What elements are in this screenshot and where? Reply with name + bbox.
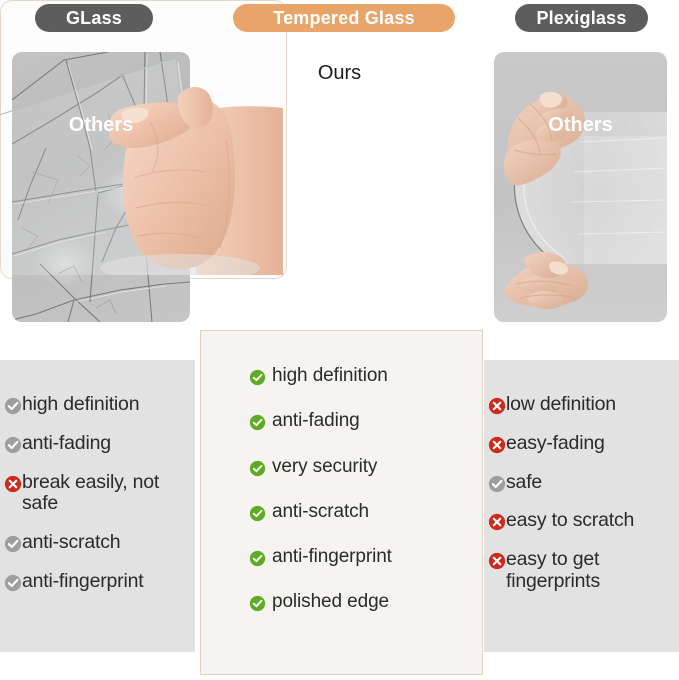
feature-label: polished edge xyxy=(266,591,389,612)
feature-label: anti-fading xyxy=(22,433,111,455)
feature-list-tempered-glass: high definition anti-fading very securit… xyxy=(249,365,474,637)
list-item: high definition xyxy=(249,365,474,386)
feature-label: anti-fading xyxy=(266,410,360,431)
photo-bending-plexiglass: Others xyxy=(494,52,667,322)
list-item: polished edge xyxy=(249,591,474,612)
feature-panel-plexiglass: low definition easy-fading safe easy to … xyxy=(484,360,679,652)
list-item: high definition xyxy=(4,394,193,416)
list-item: safe xyxy=(488,472,677,494)
cross-red-icon xyxy=(488,552,506,570)
category-pill-plexiglass[interactable]: Plexiglass xyxy=(515,4,648,32)
list-item: break easily, not safe xyxy=(4,472,193,516)
feature-label: anti-fingerprint xyxy=(22,571,143,593)
feature-label: very security xyxy=(266,456,377,477)
check-green-icon xyxy=(249,369,266,386)
feature-label: easy to scratch xyxy=(506,510,634,532)
list-item: anti-fading xyxy=(249,410,474,431)
photo-tempered-glass-hand: Ours xyxy=(0,0,287,279)
category-pill-plexiglass-label: Plexiglass xyxy=(536,8,626,29)
feature-label: safe xyxy=(506,472,542,494)
feature-label: low definition xyxy=(506,394,616,416)
list-item: easy to get fingerprints xyxy=(488,549,677,593)
hands-bending-plexiglass-illustration xyxy=(494,52,667,322)
feature-label: high definition xyxy=(266,365,388,386)
list-item: anti-scratch xyxy=(249,501,474,522)
photo-label-right: Others xyxy=(494,114,667,137)
feature-label: high definition xyxy=(22,394,139,416)
feature-label: easy-fading xyxy=(506,433,605,455)
check-gray-icon xyxy=(4,397,22,415)
list-item: anti-fading xyxy=(4,433,193,455)
list-item: low definition xyxy=(488,394,677,416)
feature-panel-tempered-glass: high definition anti-fading very securit… xyxy=(200,330,483,675)
check-green-icon xyxy=(249,595,266,612)
check-gray-icon xyxy=(488,475,506,493)
list-item: easy-fading xyxy=(488,433,677,455)
list-item: easy to scratch xyxy=(488,510,677,532)
list-item: anti-fingerprint xyxy=(4,571,193,593)
cross-red-icon xyxy=(488,513,506,531)
cross-red-icon xyxy=(488,436,506,454)
feature-label: easy to get fingerprints xyxy=(506,549,677,593)
feature-label: break easily, not safe xyxy=(22,472,193,516)
list-item: anti-scratch xyxy=(4,532,193,554)
feature-label: anti-scratch xyxy=(266,501,369,522)
check-gray-icon xyxy=(4,436,22,454)
feature-label: anti-fingerprint xyxy=(266,546,392,567)
photo-label-center: Ours xyxy=(0,62,679,85)
cross-red-icon xyxy=(4,475,22,493)
list-item: anti-fingerprint xyxy=(249,546,474,567)
check-green-icon xyxy=(249,550,266,567)
feature-panel-glass: high definition anti-fading break easily… xyxy=(0,360,195,652)
check-green-icon xyxy=(249,414,266,431)
check-green-icon xyxy=(249,460,266,477)
category-pill-tempered-glass-label: Tempered Glass xyxy=(273,8,415,29)
hand-holding-glass-illustration xyxy=(0,0,283,275)
list-item: very security xyxy=(249,456,474,477)
photo-label-left: Others xyxy=(12,114,190,137)
check-gray-icon xyxy=(4,574,22,592)
feature-list-plexiglass: low definition easy-fading safe easy to … xyxy=(488,394,677,610)
feature-label: anti-scratch xyxy=(22,532,120,554)
cross-red-icon xyxy=(488,397,506,415)
feature-list-glass: high definition anti-fading break easily… xyxy=(4,394,193,610)
check-gray-icon xyxy=(4,535,22,553)
check-green-icon xyxy=(249,505,266,522)
